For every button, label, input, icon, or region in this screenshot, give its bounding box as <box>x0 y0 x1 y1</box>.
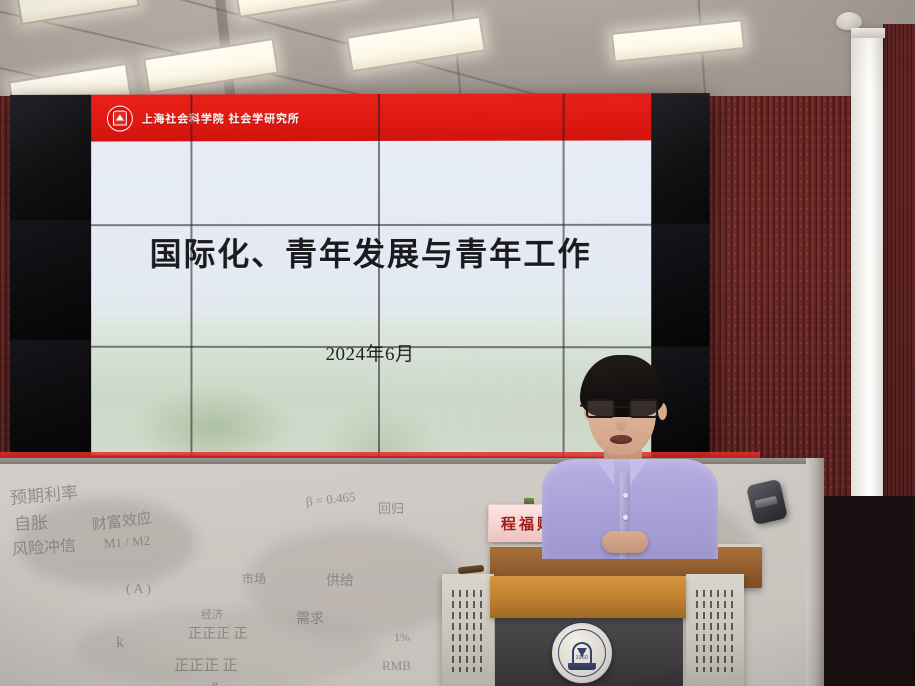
podium-front-panel: 1960 <box>495 616 683 686</box>
whiteboard-scribble: 经济 <box>201 606 223 622</box>
column-cap <box>851 28 885 38</box>
videowall-panel-inactive <box>10 95 91 221</box>
white-column <box>851 30 883 496</box>
slide-header-banner: 上海社会科学院 社会学研究所 <box>91 93 651 141</box>
seal-inner-ring: 1960 <box>558 629 606 677</box>
nose <box>616 417 626 431</box>
videowall-bezel-horizontal <box>91 224 651 226</box>
hands <box>602 531 648 553</box>
glasses-bridge <box>615 406 629 408</box>
whiteboard-scribble: k <box>116 634 124 652</box>
ceiling-light-panel <box>143 38 279 94</box>
videowall-panel-inactive <box>10 340 91 456</box>
whiteboard-scribble: 供给 <box>326 570 354 590</box>
slide-title: 国际化、青年发展与青年工作 <box>91 229 651 275</box>
eyeglasses-icon <box>586 399 658 418</box>
whiteboard-scribble: 回归 <box>378 498 404 517</box>
podium-desktop <box>490 576 686 618</box>
videowall-panel-inactive <box>10 220 91 340</box>
whiteboard-scribble: 市场 <box>242 570 266 587</box>
whiteboard-right-frame <box>806 458 824 686</box>
lens-left <box>586 399 615 418</box>
videowall-panel-inactive <box>651 224 710 347</box>
whiteboard-scribble: 正正正 正 <box>188 623 248 643</box>
whiteboard-scribble: M1 / M2 <box>103 533 150 552</box>
videowall-bezel-vertical <box>190 94 192 455</box>
ceiling-light-panel <box>346 16 486 73</box>
seal-book <box>568 663 596 670</box>
seal-year: 1960 <box>576 655 589 661</box>
glasses-temple <box>580 404 588 407</box>
whiteboard-scribble: 自胀 <box>13 508 48 535</box>
videowall-bezel-vertical <box>378 94 380 456</box>
videowall-panel-inactive <box>651 93 710 224</box>
shirt-collar-right <box>630 459 648 485</box>
podium-speaker-left <box>442 574 494 686</box>
ceiling-light-panel <box>611 19 745 63</box>
institute-crest-icon <box>107 105 133 131</box>
whiteboard-scribble: 正正正 正 <box>174 654 238 675</box>
shirt-collar-left <box>596 459 614 485</box>
whiteboard-scribble: RMB <box>382 658 411 674</box>
speaker-grille-icon <box>696 590 734 672</box>
lens-right <box>629 399 658 418</box>
whiteboard-scribble: 风险冲信 <box>11 532 77 560</box>
podium-speaker-right <box>686 574 744 686</box>
mouth <box>610 435 632 444</box>
slide-org-name: 上海社会科学院 社会学研究所 <box>142 110 300 126</box>
ceiling-light-panel <box>16 0 139 25</box>
shirt-button <box>623 515 628 520</box>
ceiling-light-panel <box>234 0 367 18</box>
right-wall-section <box>883 24 915 496</box>
whiteboard-scribble: β = 0.465 <box>305 489 356 510</box>
lecture-hall-photo: 上海社会科学院 社会学研究所 国际化、青年发展与青年工作 2024年6月 预期利… <box>0 0 915 686</box>
speaker-grille-icon <box>452 590 484 672</box>
whiteboard-scribble: 1% <box>394 630 410 645</box>
whiteboard-scribble: e <box>212 676 218 686</box>
microphone-base-icon[interactable] <box>458 565 485 575</box>
shirt-button <box>623 493 628 498</box>
university-seal-icon: 1960 <box>551 622 613 684</box>
whiteboard-scribble: 需求 <box>296 608 324 628</box>
speaker-person <box>548 355 708 555</box>
whiteboard-scribble: ( A ) <box>126 582 151 598</box>
